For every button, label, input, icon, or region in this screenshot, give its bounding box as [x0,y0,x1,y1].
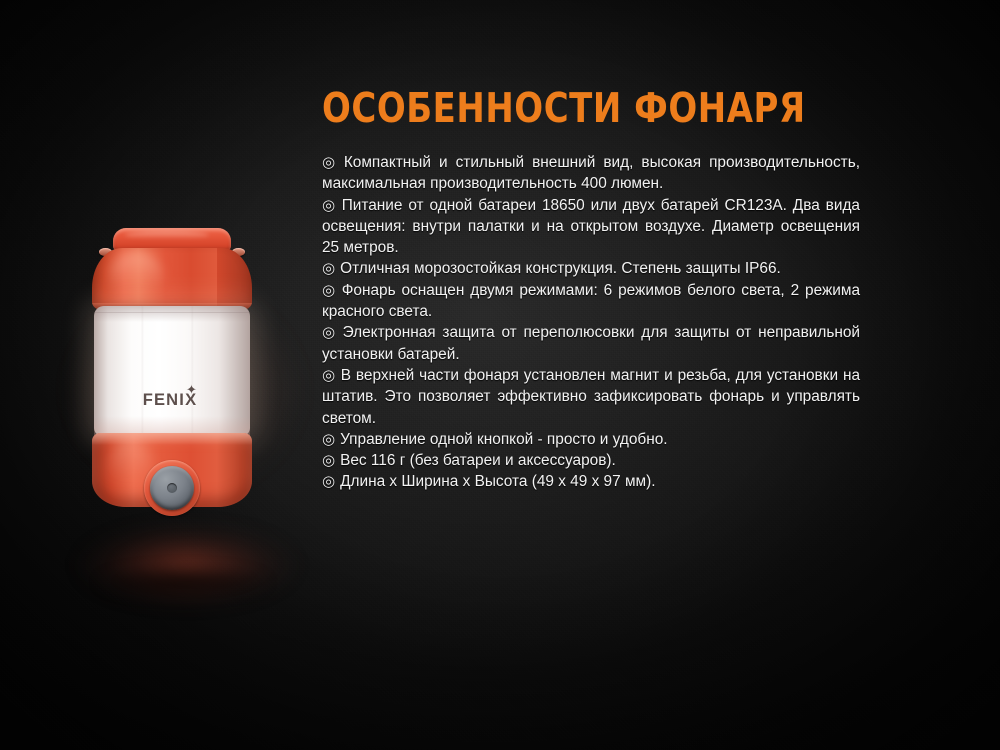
cap-highlight [108,252,164,304]
bullet-icon: ◎ [322,260,335,277]
page-title: ОСОБЕННОСТИ ФОНАРЯ [322,88,817,129]
list-item: ◎Компактный и стильный внешний вид, высо… [322,152,860,195]
bullet-icon: ◎ [322,367,336,384]
feature-text: Питание от одной батареи 18650 или двух … [322,197,860,257]
feature-text: Длина x Ширина x Высота (49 x 49 x 97 мм… [340,473,655,490]
feature-text: Фонарь оснащен двумя режимами: 6 режимов… [322,282,860,320]
bullet-icon: ◎ [322,282,337,299]
base-top-glow [92,433,252,445]
bullet-icon: ◎ [322,154,339,171]
bullet-icon: ◎ [322,197,337,214]
feature-text: Управление одной кнопкой - просто и удоб… [340,431,667,448]
feature-text: Отличная морозостойкая конструкция. Степ… [340,260,781,277]
list-item: ◎Фонарь оснащен двумя режимами: 6 режимо… [322,280,860,323]
bullet-icon: ◎ [322,473,335,490]
lantern-body: FENIX ✦ [92,228,252,578]
slide-canvas: FENIX ✦ ОСОБЕННОСТИ ФОНАРЯ ◎Компактный и… [0,0,1000,750]
power-button-indicator-icon [167,483,177,493]
list-item: ◎Управление одной кнопкой - просто и удо… [322,429,860,450]
feature-text: Компактный и стильный внешний вид, высок… [322,154,860,192]
bullet-icon: ◎ [322,431,335,448]
list-item: ◎Вес 116 г (без батареи и аксессуаров). [322,450,860,471]
feature-text: В верхней части фонаря установлен магнит… [322,367,860,427]
feature-list: ◎Компактный и стильный внешний вид, высо… [322,152,860,493]
diffuser-top-shade [94,306,250,322]
feature-text: Электронная защита от переполюсовки для … [322,324,860,362]
list-item: ◎Электронная защита от переполюсовки для… [322,322,860,365]
lantern-cap-shoulder [92,248,252,310]
lantern-diffuser [94,306,250,436]
list-item: ◎В верхней части фонаря установлен магни… [322,365,860,429]
brand-logo: FENIX ✦ [92,391,248,410]
product-image-lantern: FENIX ✦ [60,190,310,610]
feature-text: Вес 116 г (без батареи и аксессуаров). [340,452,616,469]
list-item: ◎Питание от одной батареи 18650 или двух… [322,195,860,259]
list-item: ◎Длина x Ширина x Высота (49 x 49 x 97 м… [322,471,860,492]
brand-star-icon: ✦ [186,384,197,395]
bullet-icon: ◎ [322,324,338,341]
list-item: ◎Отличная морозостойкая конструкция. Сте… [322,258,860,279]
text-column: ОСОБЕННОСТИ ФОНАРЯ ◎Компактный и стильны… [322,88,860,493]
bullet-icon: ◎ [322,452,335,469]
